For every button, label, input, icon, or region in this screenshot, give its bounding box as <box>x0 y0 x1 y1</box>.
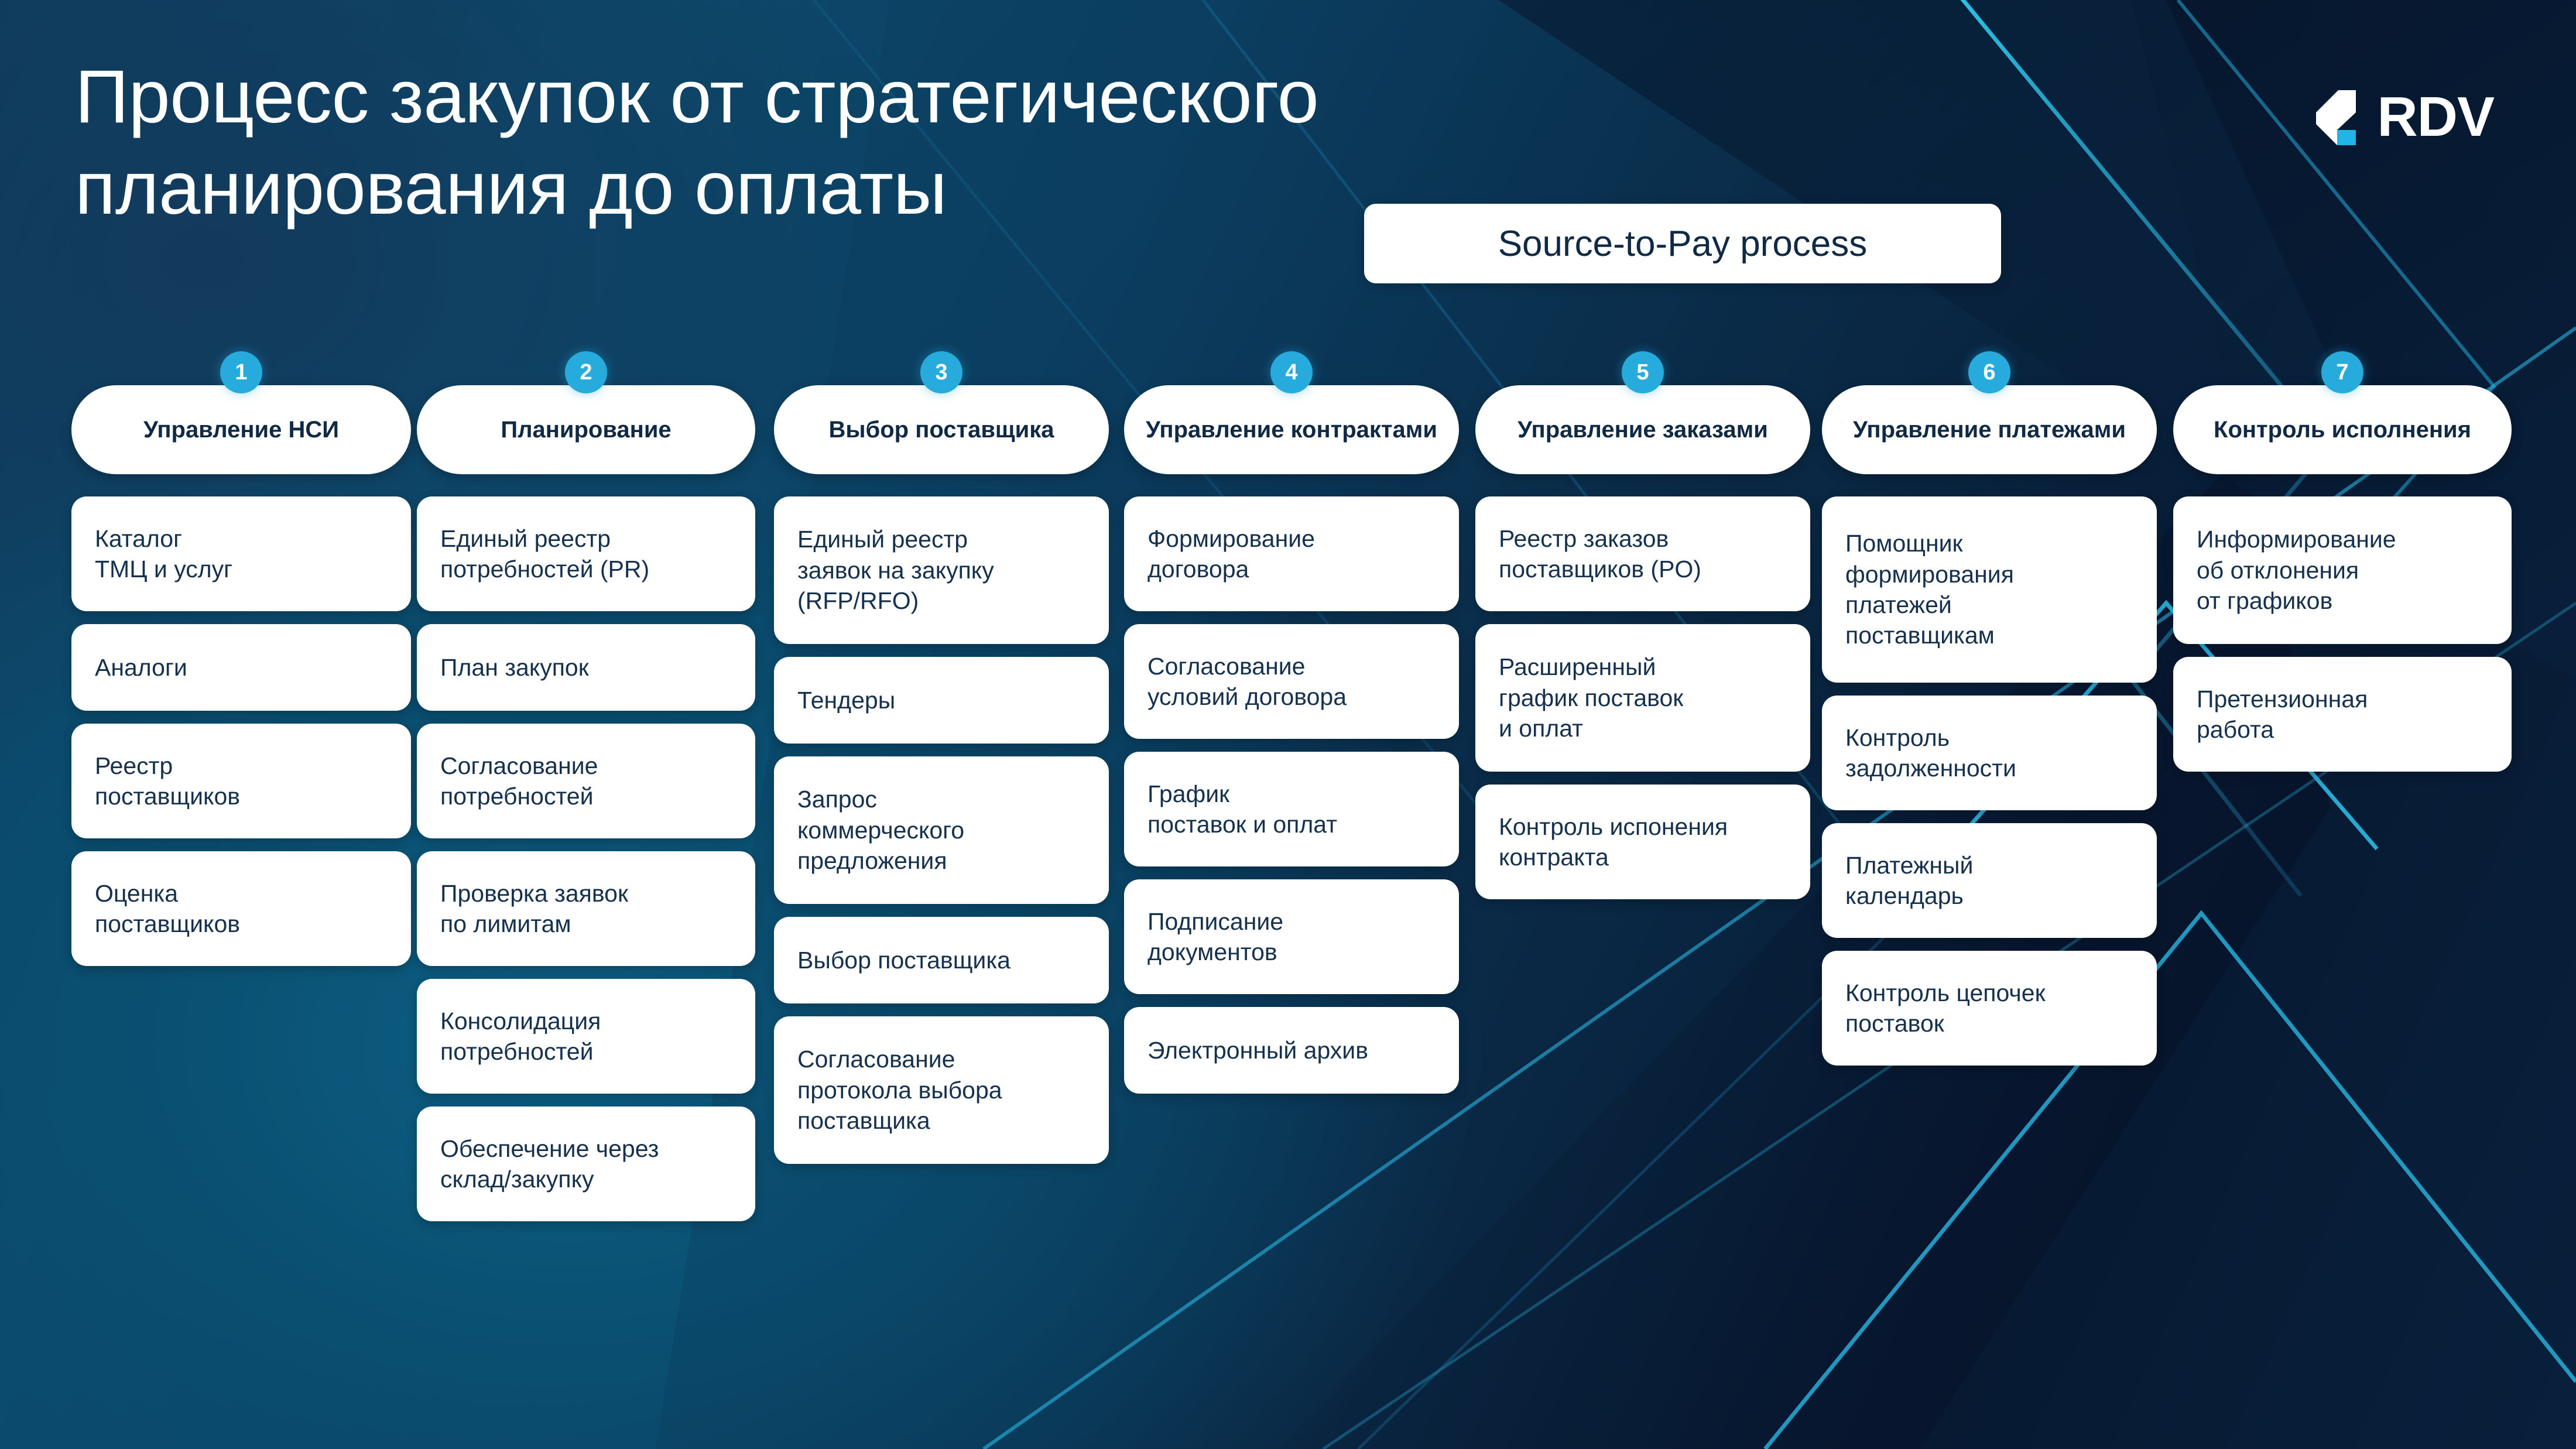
column-header-4[interactable]: 4Управление контрактами <box>1124 385 1459 474</box>
process-card-label: Согласование протокола выбора поставщика <box>797 1044 1002 1136</box>
process-card[interactable]: Контроль задолженности <box>1822 696 2157 810</box>
process-card[interactable]: Помощник формирования платежей поставщик… <box>1822 496 2157 683</box>
process-card-label: Контроль цепочек поставок <box>1845 978 2046 1039</box>
process-card[interactable]: Претензионная работа <box>2173 657 2512 772</box>
column-header-7[interactable]: 7Контроль исполнения <box>2173 385 2512 474</box>
rdv-logo: RDV <box>2315 89 2494 145</box>
process-card-label: Платежный календарь <box>1845 850 1973 912</box>
column-header-label: Выбор поставщика <box>813 416 1069 443</box>
process-column-3: 3Выбор поставщикаЕдиный реестр заявок на… <box>774 351 1109 1177</box>
process-card-label: Реестр заказов поставщиков (PO) <box>1499 523 1701 585</box>
process-card-label: Электронный архив <box>1147 1035 1368 1066</box>
column-card-list: Помощник формирования платежей поставщик… <box>1822 496 2157 1066</box>
column-header-label: Управление заказами <box>1502 416 1783 443</box>
step-number-badge: 4 <box>1270 351 1313 393</box>
source-to-pay-badge: Source-to-Pay process <box>1364 204 2001 283</box>
process-column-1: 1Управление НСИКаталог ТМЦ и услугАналог… <box>71 351 411 979</box>
column-header-label: Планирование <box>485 416 686 443</box>
column-card-list: Информирование об отклонения от графиков… <box>2173 496 2512 772</box>
process-card-label: Претензионная работа <box>2197 684 2368 745</box>
process-card-label: Реестр поставщиков <box>95 751 240 812</box>
process-card[interactable]: План закупок <box>417 624 755 711</box>
column-header-6[interactable]: 6Управление платежами <box>1822 385 2157 474</box>
process-card-label: Запрос коммерческого предложения <box>797 784 964 876</box>
process-card[interactable]: Реестр поставщиков <box>71 724 411 838</box>
process-card[interactable]: График поставок и оплат <box>1124 752 1459 866</box>
process-card[interactable]: Единый реестр потребностей (PR) <box>417 496 755 611</box>
process-card[interactable]: Платежный календарь <box>1822 823 2157 938</box>
process-card[interactable]: Контроль испонения контракта <box>1475 785 1810 899</box>
process-card[interactable]: Тендеры <box>774 657 1109 744</box>
process-card-label: Проверка заявок по лимитам <box>440 878 628 940</box>
column-header-2[interactable]: 2Планирование <box>417 385 755 474</box>
process-card-label: Единый реестр потребностей (PR) <box>440 523 649 585</box>
column-card-list: Каталог ТМЦ и услугАналогиРеестр поставщ… <box>71 496 411 966</box>
process-card[interactable]: Аналоги <box>71 624 411 711</box>
column-header-3[interactable]: 3Выбор поставщика <box>774 385 1109 474</box>
source-to-pay-badge-label: Source-to-Pay process <box>1498 223 1868 265</box>
column-card-list: Единый реестр потребностей (PR)План заку… <box>417 496 755 1221</box>
process-card-label: Единый реестр заявок на закупку (RFP/RFO… <box>797 524 994 616</box>
process-card-label: Оценка поставщиков <box>95 878 240 940</box>
process-card-label: Контроль испонения контракта <box>1499 811 1728 873</box>
process-card[interactable]: Расширенный график поставок и оплат <box>1475 624 1810 772</box>
process-column-7: 7Контроль исполненияИнформирование об от… <box>2173 351 2512 785</box>
process-card-label: Информирование об отклонения от графиков <box>2197 524 2396 616</box>
step-number-badge: 7 <box>2321 351 2363 393</box>
step-number-badge: 6 <box>1968 351 2010 393</box>
process-card-label: Подписание документов <box>1147 906 1283 968</box>
process-card[interactable]: Проверка заявок по лимитам <box>417 851 755 966</box>
process-card-label: Расширенный график поставок и оплат <box>1499 652 1683 744</box>
column-header-label: Управление НСИ <box>128 416 354 443</box>
process-card-label: Обеспечение через склад/закупку <box>440 1133 659 1195</box>
process-card[interactable]: Контроль цепочек поставок <box>1822 951 2157 1066</box>
column-header-label: Управление платежами <box>1838 416 2141 443</box>
process-card-label: Помощник формирования платежей поставщик… <box>1845 528 2014 651</box>
process-card[interactable]: Обеспечение через склад/закупку <box>417 1107 755 1221</box>
column-card-list: Формирование договораСогласование услови… <box>1124 496 1459 1094</box>
process-card-label: Согласование условий договора <box>1147 651 1347 712</box>
column-card-list: Единый реестр заявок на закупку (RFP/RFO… <box>774 496 1109 1164</box>
column-header-1[interactable]: 1Управление НСИ <box>71 385 411 474</box>
step-number-badge: 1 <box>220 351 262 393</box>
process-card-label: Консолидация потребностей <box>440 1006 601 1067</box>
page-header: Процесс закупок от стратегического плани… <box>0 0 2576 328</box>
column-card-list: Реестр заказов поставщиков (PO)Расширенн… <box>1475 496 1810 899</box>
process-card[interactable]: Формирование договора <box>1124 496 1459 611</box>
process-card[interactable]: Единый реестр заявок на закупку (RFP/RFO… <box>774 496 1109 644</box>
process-card[interactable]: Подписание документов <box>1124 879 1459 994</box>
process-card[interactable]: Выбор поставщика <box>774 917 1109 1003</box>
process-card[interactable]: Электронный архив <box>1124 1007 1459 1094</box>
process-card-label: График поставок и оплат <box>1147 779 1337 840</box>
process-card[interactable]: Каталог ТМЦ и услуг <box>71 496 411 611</box>
step-number-badge: 3 <box>920 351 962 393</box>
process-board: 1Управление НСИКаталог ТМЦ и услугАналог… <box>0 351 2576 1449</box>
process-card-label: Выбор поставщика <box>797 945 1010 975</box>
process-card-label: Согласование потребностей <box>440 751 598 812</box>
process-card-label: Формирование договора <box>1147 523 1315 585</box>
process-card-label: Контроль задолженности <box>1845 722 2016 784</box>
process-card[interactable]: Оценка поставщиков <box>71 851 411 966</box>
rdv-chevron-mark-icon <box>2315 89 2369 145</box>
process-card[interactable]: Согласование потребностей <box>417 724 755 838</box>
process-column-6: 6Управление платежамиПомощник формирован… <box>1822 351 2157 1078</box>
step-number-badge: 2 <box>565 351 607 393</box>
step-number-badge: 5 <box>1622 351 1664 393</box>
process-column-4: 4Управление контрактамиФормирование дого… <box>1124 351 1459 1107</box>
process-card[interactable]: Реестр заказов поставщиков (PO) <box>1475 496 1810 611</box>
process-card[interactable]: Консолидация потребностей <box>417 979 755 1094</box>
process-card[interactable]: Информирование об отклонения от графиков <box>2173 496 2512 644</box>
column-header-label: Управление контрактами <box>1131 416 1453 443</box>
column-header-label: Контроль исполнения <box>2198 416 2486 443</box>
process-card[interactable]: Согласование условий договора <box>1124 624 1459 739</box>
process-card[interactable]: Запрос коммерческого предложения <box>774 756 1109 904</box>
process-card-label: Каталог ТМЦ и услуг <box>95 523 232 585</box>
process-card[interactable]: Согласование протокола выбора поставщика <box>774 1016 1109 1164</box>
process-card-label: Тендеры <box>797 685 895 715</box>
process-column-2: 2ПланированиеЕдиный реестр потребностей … <box>417 351 755 1234</box>
process-card-label: План закупок <box>440 652 589 683</box>
column-header-5[interactable]: 5Управление заказами <box>1475 385 1810 474</box>
process-column-5: 5Управление заказамиРеестр заказов поста… <box>1475 351 1810 912</box>
process-card-label: Аналоги <box>95 652 187 683</box>
rdv-wordmark: RDV <box>2377 89 2494 145</box>
